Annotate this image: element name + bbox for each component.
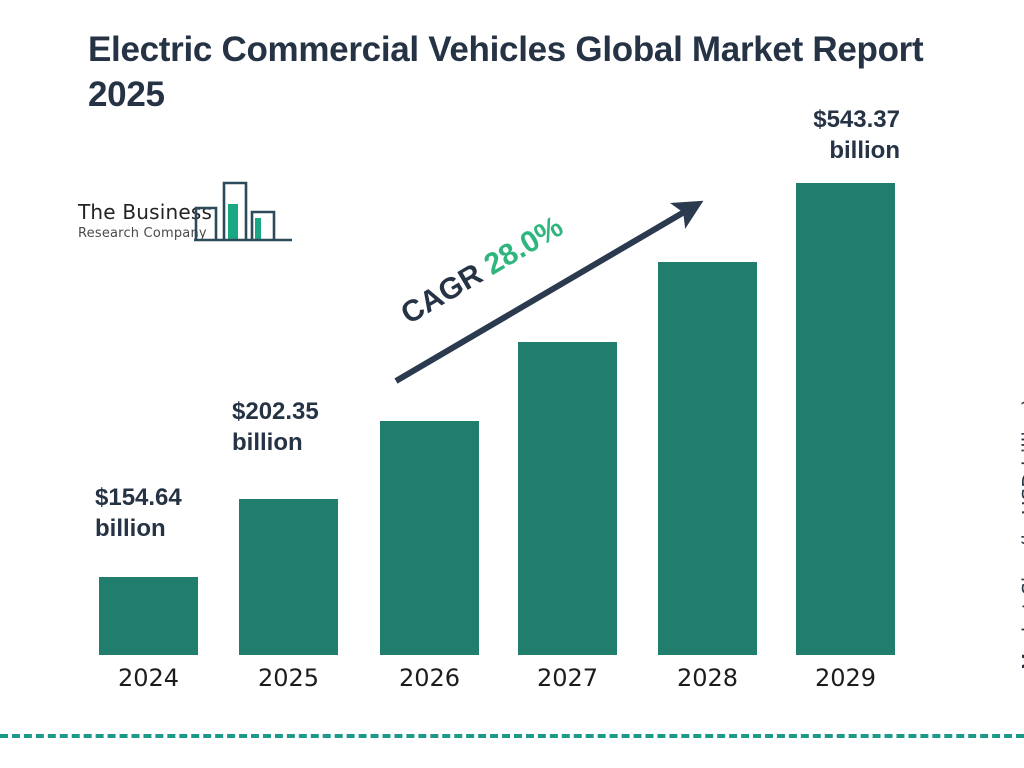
x-tick-2024: 2024 bbox=[99, 664, 198, 692]
company-logo-line1: The Business bbox=[78, 200, 213, 224]
x-tick-2027: 2027 bbox=[518, 664, 617, 692]
bar-value-amount-2024: $154.64 bbox=[95, 482, 255, 513]
bar-value-amount-2029: $543.37 bbox=[760, 104, 900, 135]
bar-value-label-2025: $202.35 billion bbox=[232, 396, 392, 458]
y-axis-title: Market Size (in USD billion) bbox=[1018, 330, 1024, 670]
x-tick-2026: 2026 bbox=[380, 664, 479, 692]
company-logo: The Business Research Company bbox=[78, 178, 293, 260]
bar-value-unit-2029: billion bbox=[760, 135, 900, 166]
company-logo-line2: Research Company bbox=[78, 226, 213, 241]
company-logo-text: The Business Research Company bbox=[78, 200, 213, 241]
bar-2027 bbox=[518, 342, 617, 655]
bar-2025 bbox=[239, 499, 338, 655]
bar-2028 bbox=[658, 262, 757, 655]
bar-value-amount-2025: $202.35 bbox=[232, 396, 392, 427]
bar-value-unit-2024: billion bbox=[95, 513, 255, 544]
bar-2024 bbox=[99, 577, 198, 655]
x-tick-2025: 2025 bbox=[239, 664, 338, 692]
bar-2029 bbox=[796, 183, 895, 655]
x-tick-2028: 2028 bbox=[658, 664, 757, 692]
x-tick-2029: 2029 bbox=[796, 664, 895, 692]
bar-chart-logo-mark bbox=[194, 178, 294, 250]
market-size-bar-chart: Electric Commercial Vehicles Global Mark… bbox=[0, 0, 1024, 768]
bar-value-label-2029: $543.37 billion bbox=[760, 104, 900, 166]
bottom-divider bbox=[0, 734, 1024, 738]
bar-2026 bbox=[380, 421, 479, 655]
bar-value-unit-2025: billion bbox=[232, 427, 392, 458]
bar-value-label-2024: $154.64 billion bbox=[95, 482, 255, 544]
